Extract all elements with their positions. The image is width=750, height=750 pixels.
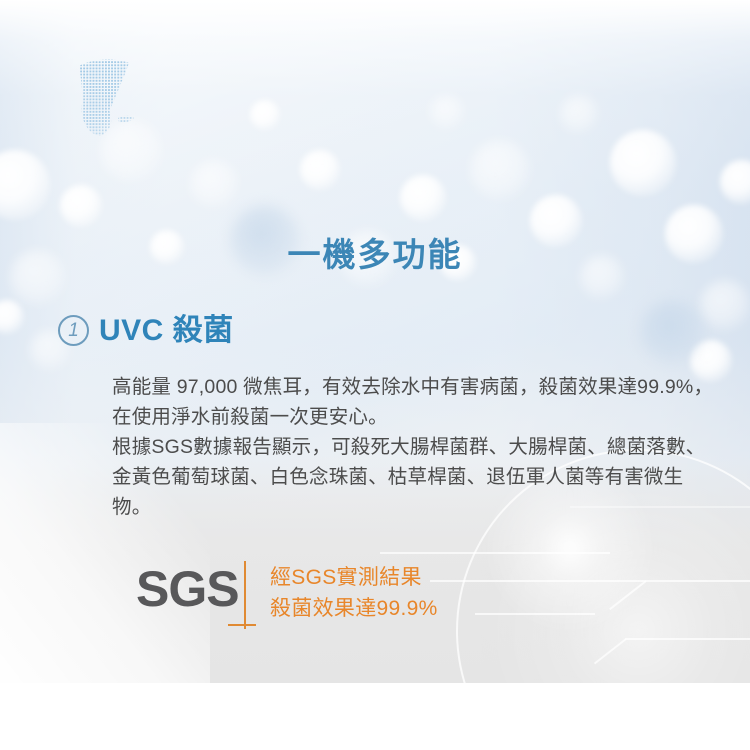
sgs-logo: SGS bbox=[136, 558, 244, 630]
main-heading: 一機多功能 bbox=[0, 238, 750, 271]
sgs-vertical-rule bbox=[244, 561, 246, 629]
sgs-certification-block: SGS 經SGS實測結果 殺菌效果達99.9% bbox=[136, 558, 438, 630]
sgs-horizontal-rule bbox=[228, 624, 256, 626]
section-title: UVC 殺菌 bbox=[99, 316, 234, 346]
section-number-badge: 1 bbox=[58, 315, 89, 346]
body-paragraph: 根據SGS數據報告顯示，可殺死大腸桿菌群、大腸桿菌、總菌落數、金黃色葡萄球菌、白… bbox=[112, 432, 722, 522]
section-header: 1 UVC 殺菌 bbox=[58, 315, 234, 346]
sgs-caption: 經SGS實測結果 殺菌效果達99.9% bbox=[270, 558, 438, 630]
sgs-caption-line-1: 經SGS實測結果 bbox=[270, 562, 438, 593]
content-layer: 一機多功能 1 UVC 殺菌 高能量 97,000 微焦耳，有效去除水中有害病菌… bbox=[0, 0, 750, 683]
body-paragraph: 高能量 97,000 微焦耳，有效去除水中有害病菌，殺菌效果達99.9%，在使用… bbox=[112, 372, 722, 432]
promo-banner: 一機多功能 1 UVC 殺菌 高能量 97,000 微焦耳，有效去除水中有害病菌… bbox=[0, 0, 750, 750]
sgs-wordmark: SGS bbox=[136, 558, 244, 620]
section-body: 高能量 97,000 微焦耳，有效去除水中有害病菌，殺菌效果達99.9%，在使用… bbox=[112, 372, 722, 522]
sgs-caption-line-2: 殺菌效果達99.9% bbox=[270, 593, 438, 624]
